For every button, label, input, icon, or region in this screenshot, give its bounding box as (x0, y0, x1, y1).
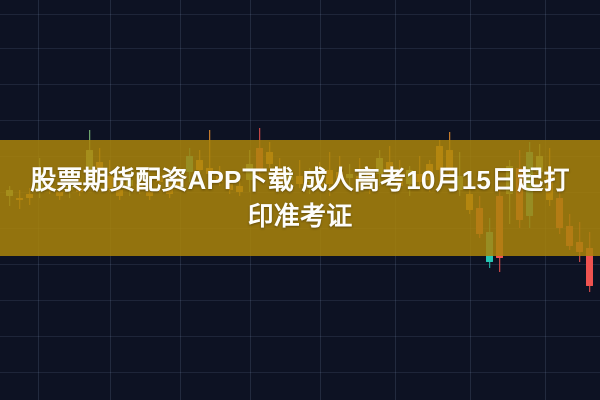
headline-overlay-band (0, 140, 600, 256)
banner-image: 股票期货配资APP下载 成人高考10月15日起打 印准考证 (0, 0, 600, 400)
